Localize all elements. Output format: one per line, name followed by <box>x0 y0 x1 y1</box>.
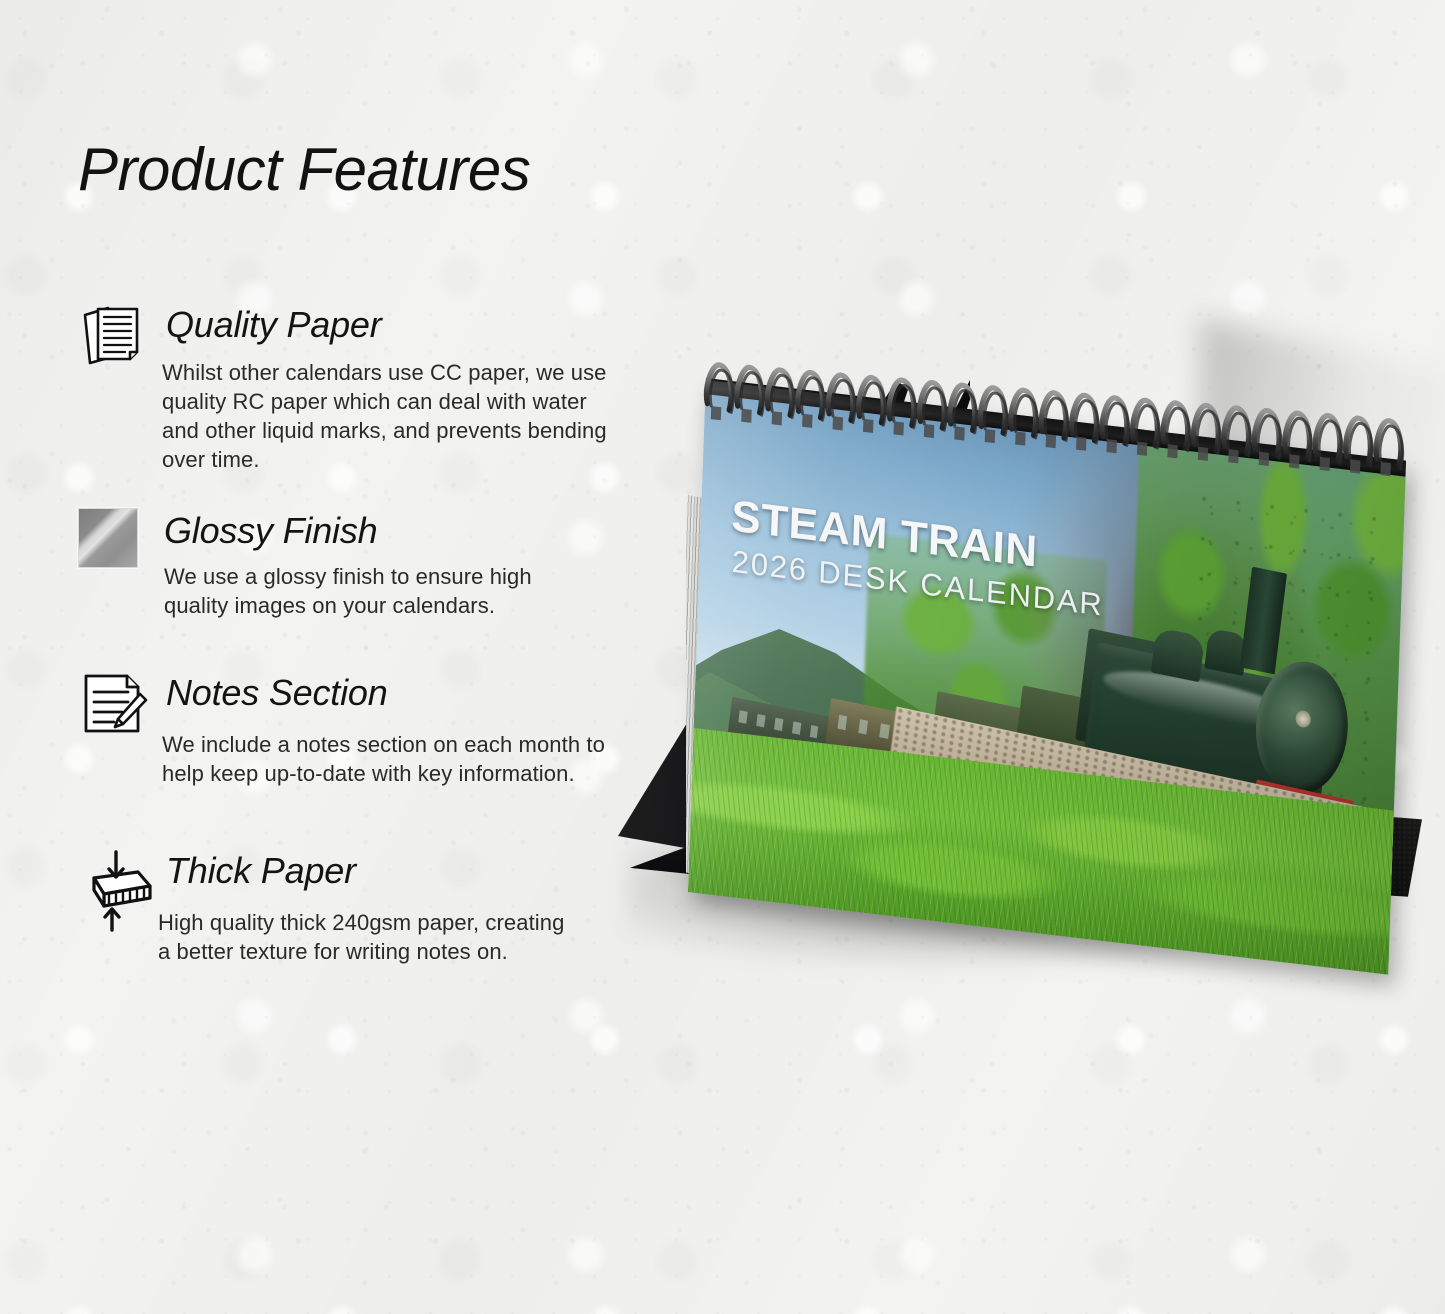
feature-title: Quality Paper <box>166 304 382 346</box>
stacked-paper-icon <box>78 300 150 372</box>
feature-description: Whilst other calendars use CC paper, we … <box>162 358 612 474</box>
product-calendar-mockup: STEAM TRAIN 2026 DESK CALENDAR <box>600 320 1410 1000</box>
feature-title: Glossy Finish <box>164 510 377 552</box>
glossy-square-icon <box>78 508 140 570</box>
thick-slab-icon <box>72 848 158 934</box>
note-pencil-icon <box>78 668 150 740</box>
feature-description: We use a glossy finish to ensure high qu… <box>164 562 584 620</box>
features-column: Product Features Quality Paper <box>0 0 640 1314</box>
feature-description: High quality thick 240gsm paper, creatin… <box>158 908 578 966</box>
feature-title: Notes Section <box>166 672 388 714</box>
feature-title: Thick Paper <box>166 850 356 892</box>
feature-description: We include a notes section on each month… <box>162 730 612 788</box>
page-title: Product Features <box>78 135 530 204</box>
